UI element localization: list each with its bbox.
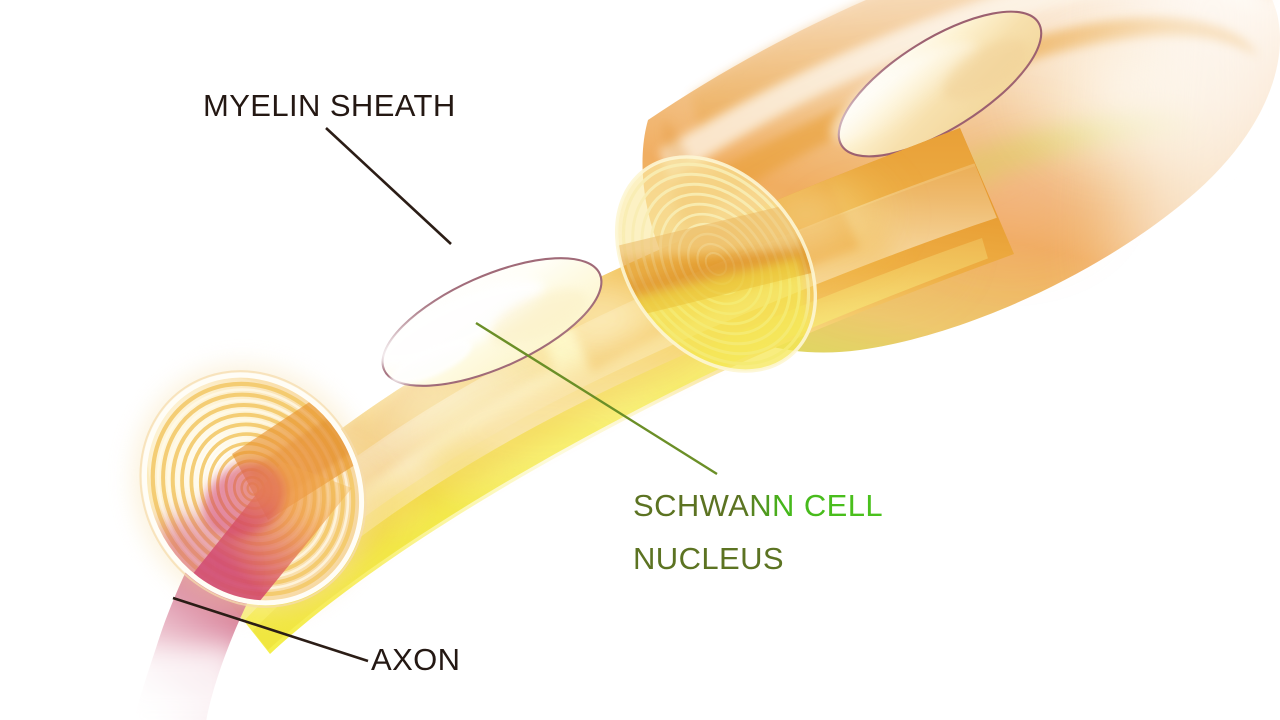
diagram-canvas: MYELIN SHEATH AXON SCHWANN CELL NUCLEUS <box>0 0 1280 720</box>
label-schwann-cell-nucleus-line2: NUCLEUS <box>633 541 883 578</box>
node-cross-section-left <box>85 318 420 660</box>
label-schwann-cell-nucleus-line1: SCHWANN CELL <box>633 488 883 525</box>
axon-tail-fade <box>118 648 236 720</box>
nerve-fiber-illustration <box>0 0 1280 720</box>
label-myelin-sheath: MYELIN SHEATH <box>203 88 456 125</box>
label-axon: AXON <box>371 642 460 679</box>
leader-line-myelin-sheath <box>326 128 451 244</box>
label-schwann-cell-nucleus: SCHWANN CELL NUCLEUS <box>633 488 883 577</box>
